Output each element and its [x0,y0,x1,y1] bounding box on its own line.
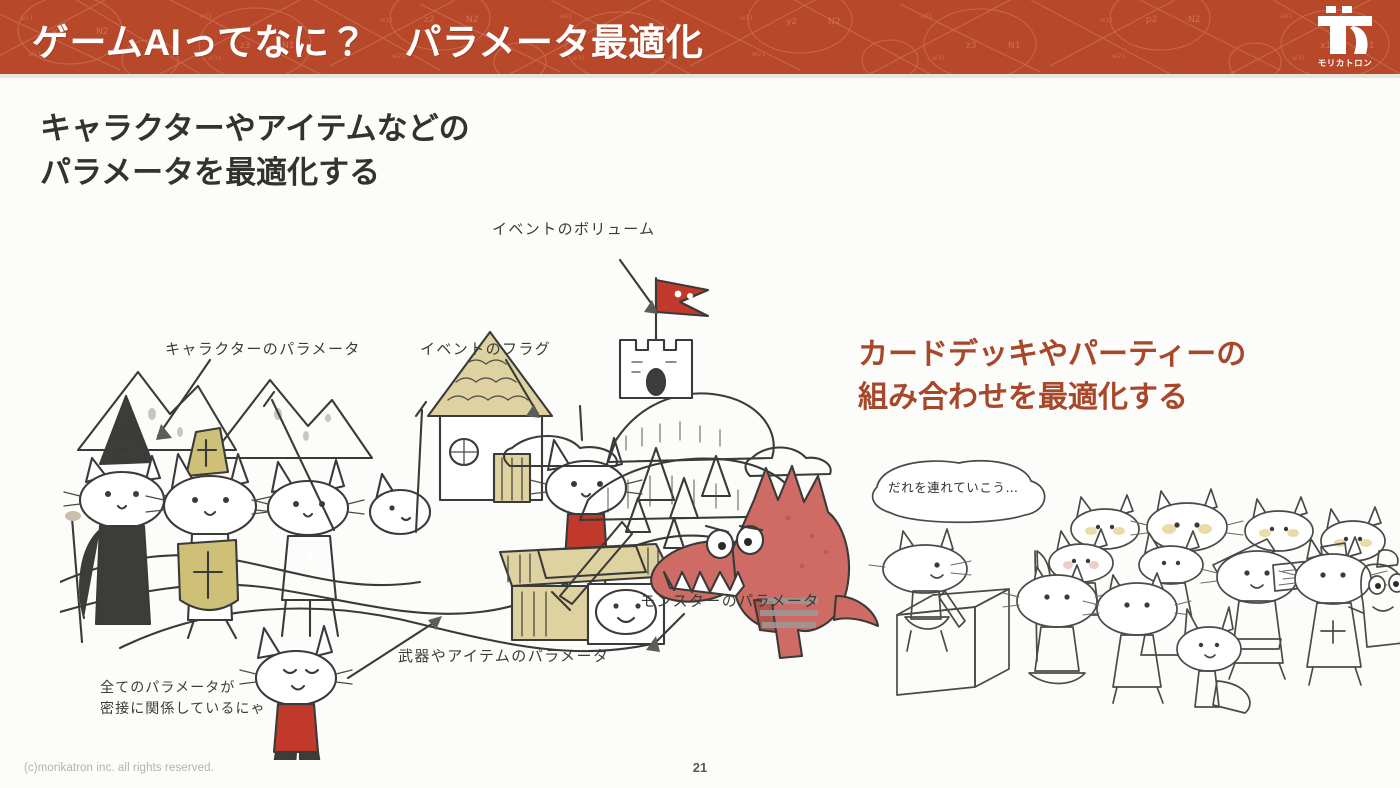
svg-text:y2: y2 [786,17,797,27]
page-title: ゲームAIってなに？ パラメータ最適化 [32,12,703,66]
svg-text:w31: w31 [932,54,946,62]
callout-event-volume: イベントのボリューム [492,218,656,241]
svg-text:w31: w31 [1292,54,1306,62]
lead-heading: キャラクターやアイテムなどの パラメータを最適化する [40,107,470,195]
svg-text:w11: w11 [740,14,754,22]
callout-character-parameter: キャラクターのパラメータ [165,338,361,361]
svg-text:N2: N2 [1188,15,1200,25]
knight-cat-with-shield [146,428,274,638]
cat-crowd [1003,489,1400,713]
callout-speech-bubble: だれを連れていこう… [888,479,1019,498]
svg-text:w21: w21 [1112,52,1126,60]
logo-wordmark: モリカトロン [1308,57,1382,69]
rpg-world-illustration: .ink { fill:none; stroke:#3a3a38; stroke… [60,200,890,760]
right-heading: カードデッキやパーティーの 組み合わせを最適化する [858,334,1246,420]
svg-text:p2: p2 [1146,15,1157,25]
leader-cat-on-box [869,529,1009,695]
svg-text:w11: w11 [1100,16,1114,24]
svg-text:a01: a01 [1280,12,1292,20]
slide-header: y2N2 z3N1 z2N2 x3N1 y2N2 z3N1 p2N2 x1N1 … [0,0,1400,74]
callout-event-flag: イベントのフラグ [420,338,551,361]
warrior-cat-with-sword [252,392,364,636]
header-divider [0,74,1400,78]
callout-cat-remark: 全てのパラメータが 密接に関係しているにゃ [100,678,266,720]
slide: y2N2 z3N1 z2N2 x3N1 y2N2 z3N1 p2N2 x1N1 … [0,0,1400,788]
morikatron-ka-icon [1308,4,1382,56]
pink-dress-cat [1279,537,1387,685]
callout-weapon-item-parameter: 武器やアイテムのパラメータ [398,645,609,668]
callout-monster-parameter: モンスターのパラメータ [640,590,820,613]
page-number: 21 [0,760,1400,775]
brand-logo: モリカトロン [1308,4,1382,72]
svg-text:w21: w21 [752,50,766,58]
small-rabbit [1177,607,1250,713]
svg-text:N2: N2 [828,17,840,27]
svg-text:a01: a01 [920,12,932,20]
red-monster [651,466,878,658]
archer-cat [370,402,430,534]
svg-text:N1: N1 [1008,41,1020,51]
svg-text:z3: z3 [966,41,976,51]
